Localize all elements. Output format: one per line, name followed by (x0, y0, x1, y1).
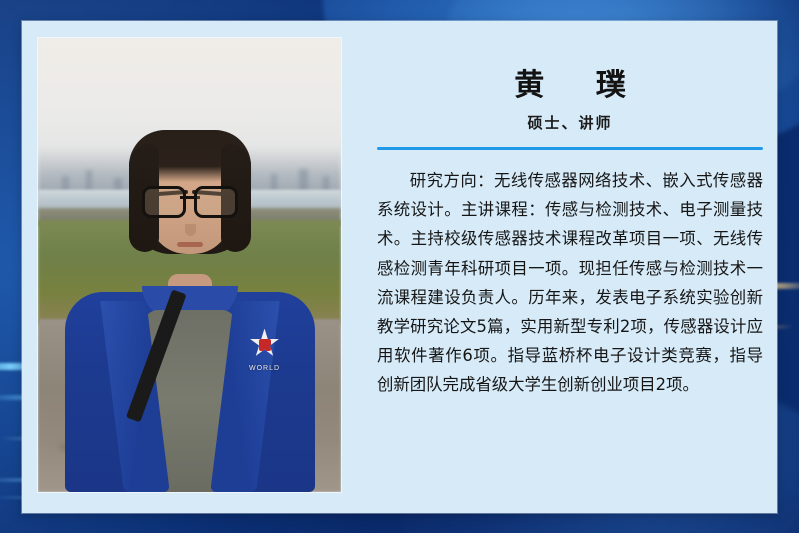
eyeglasses-icon (142, 186, 238, 212)
title-divider (377, 147, 763, 150)
person-bio: 研究方向：无线传感器网络技术、嵌入式传感器系统设计。主讲课程：传感与检测技术、电… (377, 166, 763, 400)
profile-text-column: 黄 璞 硕士、讲师 研究方向：无线传感器网络技术、嵌入式传感器系统设计。主讲课程… (377, 39, 763, 509)
patch-label: WORLD (242, 365, 288, 372)
slide-canvas: WORLD (0, 0, 799, 533)
profile-card-panel: WORLD (22, 21, 777, 513)
subject-mouth (177, 242, 203, 247)
portrait-photo: WORLD (38, 38, 341, 492)
subject-head (138, 138, 242, 266)
photo-subject: WORLD (38, 38, 341, 492)
person-name: 黄 璞 (377, 69, 763, 102)
lens-left (142, 186, 186, 218)
lens-right (194, 186, 238, 218)
person-title: 硕士、讲师 (377, 112, 763, 133)
subject-nose (185, 224, 196, 236)
